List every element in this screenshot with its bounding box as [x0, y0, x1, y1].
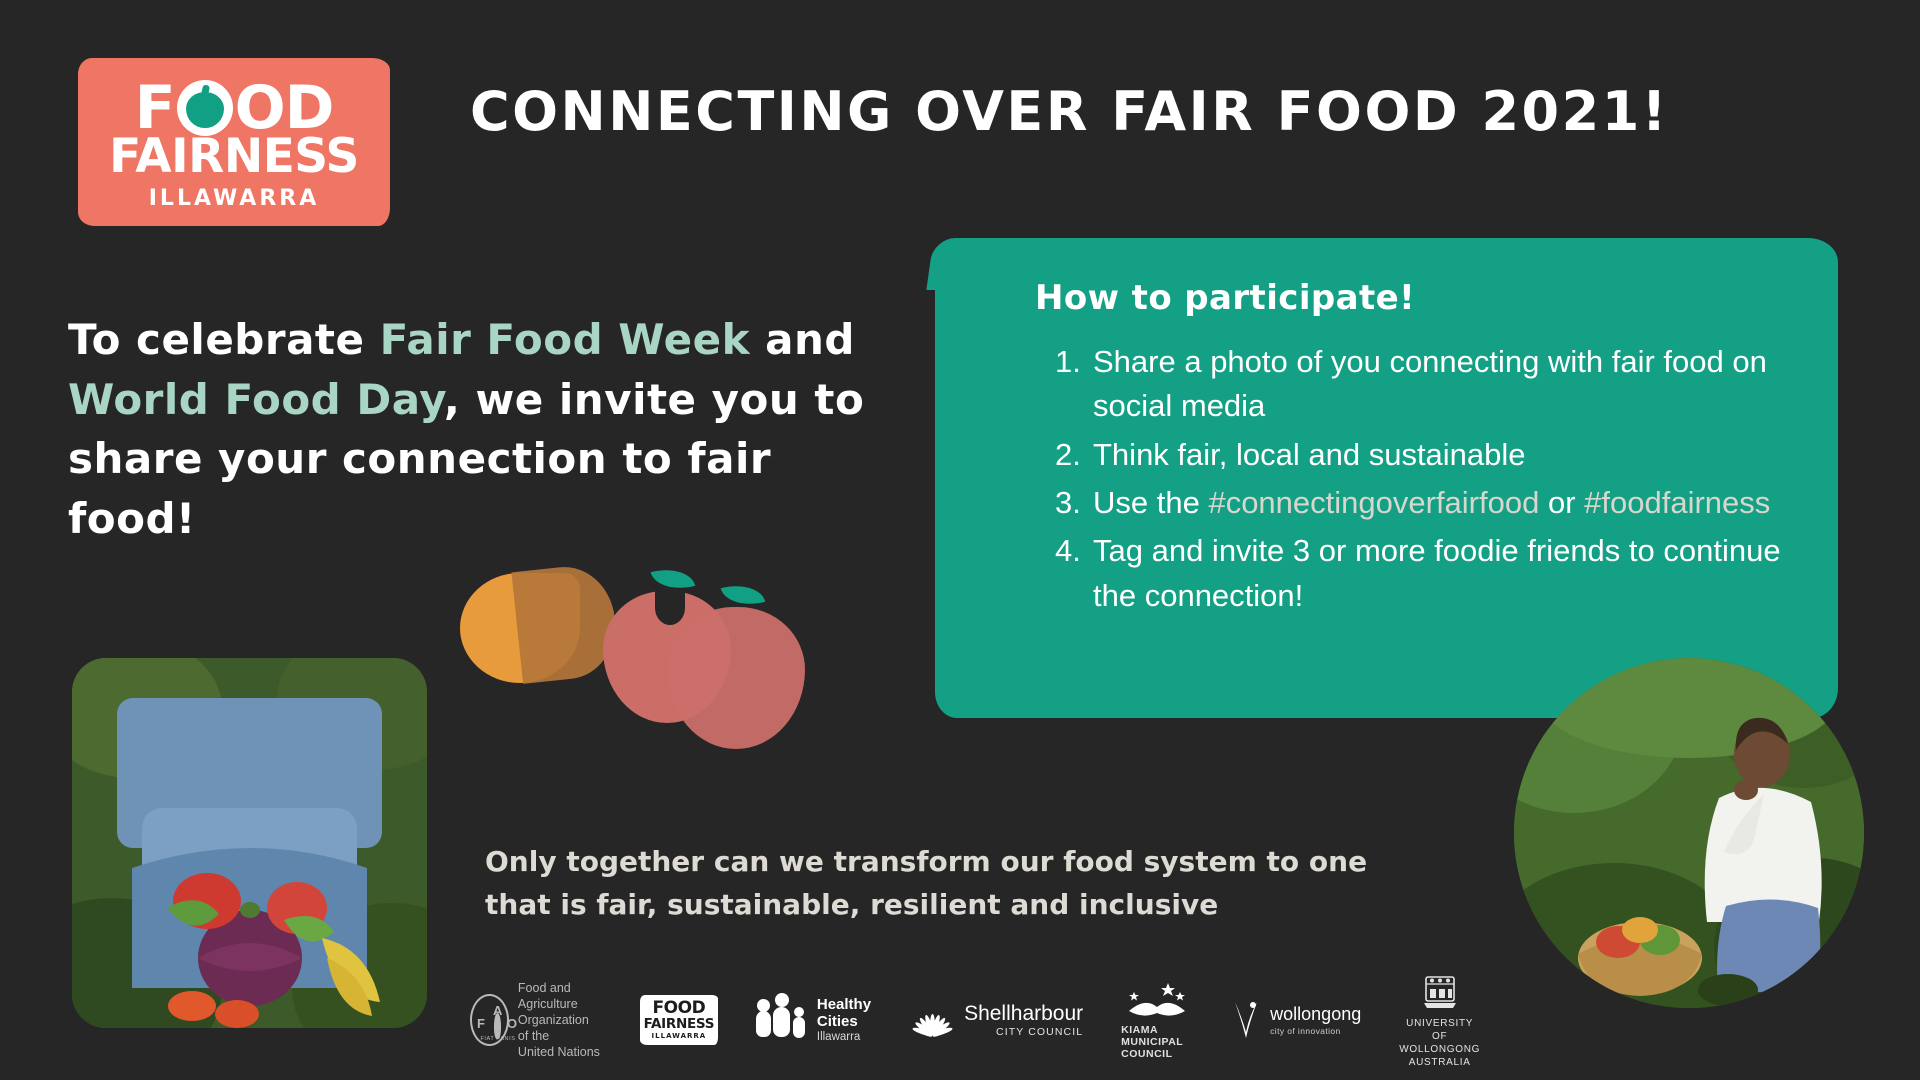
logo-word-illawarra: ILLAWARRA [149, 186, 319, 211]
hashtag-foodfairness[interactable]: #foodfairness [1584, 485, 1770, 520]
photo-woman-in-garden [1514, 658, 1864, 1008]
hc-line3: Illawarra [817, 1031, 871, 1043]
photo-left-graphic [72, 658, 427, 1028]
partner-fao: F A O FIAT PANIS Food and Agriculture Or… [470, 980, 602, 1060]
wg-line1: wollongong [1270, 1004, 1361, 1025]
fao-label-line1: Food and Agriculture [518, 980, 602, 1012]
list-item-number: 4. [1055, 529, 1093, 573]
healthy-cities-label: Healthy Cities Illawarra [817, 997, 871, 1043]
fruit-illustration [455, 555, 925, 785]
photo-hands-holding-vegetables [72, 658, 427, 1028]
partner-uow: UNIVERSITY OF WOLLONGONG AUSTRALIA [1399, 972, 1480, 1069]
fao-letter-o: O [507, 1016, 517, 1031]
partner-food-fairness: FOOD FAIRNESS ILLAWARRA [640, 995, 718, 1045]
ff-line2: FAIRNESS [644, 1017, 715, 1031]
list-item: 4. Tag and invite 3 or more foodie frien… [1055, 529, 1815, 618]
list-item-text: Tag and invite 3 or more foodie friends … [1093, 529, 1815, 618]
food-fairness-logo-icon: FOOD FAIRNESS ILLAWARRA [640, 995, 718, 1045]
list-item-text: Think fair, local and sustainable [1093, 433, 1815, 477]
logo-letter-d: D [285, 80, 334, 137]
invite-part2: and [750, 315, 855, 364]
list-item-text-lead: Use the [1093, 485, 1208, 520]
kiama-book-stars-icon [1121, 981, 1193, 1021]
invitation-copy: To celebrate Fair Food Week and World Fo… [68, 310, 908, 549]
page-title: CONNECTING OVER FAIR FOOD 2021! [470, 80, 1580, 143]
ff-line3: ILLAWARRA [652, 1032, 707, 1040]
sh-line1: Shellharbour [964, 1002, 1083, 1026]
shellharbour-fan-icon [909, 999, 955, 1041]
fao-label-line3: United Nations [518, 1044, 602, 1060]
fao-wheat-icon: F A O FIAT PANIS [470, 994, 509, 1046]
food-fairness-illawarra-logo: F O D FAIRNESS ILLAWARRA [78, 58, 390, 226]
invite-accent-world-food-day: World Food Day [68, 375, 444, 424]
list-item-number: 1. [1055, 340, 1093, 384]
tagline: Only together can we transform our food … [485, 840, 1385, 927]
list-item-text: Use the #connectingoverfairfood or #food… [1093, 481, 1815, 525]
wollongong-bird-icon [1231, 998, 1261, 1042]
uow-line1: UNIVERSITY [1399, 1017, 1480, 1030]
sh-line2: CITY COUNCIL [964, 1026, 1083, 1038]
partner-kiama: KIAMA MUNICIPAL COUNCIL [1121, 981, 1193, 1060]
fao-letter-f: F [477, 1016, 485, 1031]
fao-motto: FIAT PANIS [478, 1036, 518, 1042]
uow-line3: AUSTRALIA [1399, 1056, 1480, 1069]
partner-healthy-cities: Healthy Cities Illawarra [756, 997, 871, 1043]
partner-shellharbour: Shellharbour CITY COUNCIL [909, 999, 1083, 1041]
hc-line1: Healthy [817, 997, 871, 1014]
apple-notch [655, 591, 685, 625]
fao-label: Food and Agriculture Organization of the… [518, 980, 602, 1060]
kiama-label: KIAMA MUNICIPAL COUNCIL [1121, 1024, 1193, 1060]
shellharbour-label: Shellharbour CITY COUNCIL [964, 1002, 1083, 1038]
list-item: 1. Share a photo of you connecting with … [1055, 340, 1815, 429]
invite-part1: To celebrate [68, 315, 380, 364]
list-item-number: 2. [1055, 433, 1093, 477]
hc-line2: Cities [817, 1014, 871, 1031]
poster-canvas: F O D FAIRNESS ILLAWARRA CONNECTING OVER… [0, 0, 1920, 1080]
list-item-number: 3. [1055, 481, 1093, 525]
healthy-cities-figures-icon [756, 997, 808, 1043]
fao-label-line2: Organization of the [518, 1012, 602, 1044]
partner-logo-strip: F A O FIAT PANIS Food and Agriculture Or… [470, 975, 1480, 1065]
list-item: 2. Think fair, local and sustainable [1055, 433, 1815, 477]
uow-label: UNIVERSITY OF WOLLONGONG AUSTRALIA [1399, 1017, 1480, 1069]
hashtag-connectingoverfairfood[interactable]: #connectingoverfairfood [1208, 485, 1539, 520]
uow-line2: OF WOLLONGONG [1399, 1030, 1480, 1056]
partner-wollongong: wollongong city of innovation [1231, 998, 1361, 1042]
participate-steps-list: 1. Share a photo of you connecting with … [1055, 340, 1815, 622]
ff-line1: FOOD [653, 1000, 706, 1017]
logo-letter-o: O [235, 80, 285, 137]
invite-accent-fair-food-week: Fair Food Week [380, 315, 750, 364]
apple-icon [667, 607, 805, 749]
logo-word-food: F O D [135, 80, 334, 137]
uow-crest-icon [1417, 972, 1463, 1014]
list-item-text-mid: or [1539, 485, 1584, 520]
list-item: 3. Use the #connectingoverfairfood or #f… [1055, 481, 1815, 525]
panel-title: How to participate! [1035, 278, 1415, 318]
wg-line2: city of innovation [1270, 1026, 1361, 1036]
logo-word-fairness: FAIRNESS [109, 133, 359, 180]
photo-right-graphic [1514, 658, 1864, 1008]
logo-letter-f: F [135, 80, 175, 137]
wollongong-label: wollongong city of innovation [1270, 1004, 1361, 1036]
list-item-text: Share a photo of you connecting with fai… [1093, 340, 1815, 429]
apple-icon [177, 80, 233, 136]
